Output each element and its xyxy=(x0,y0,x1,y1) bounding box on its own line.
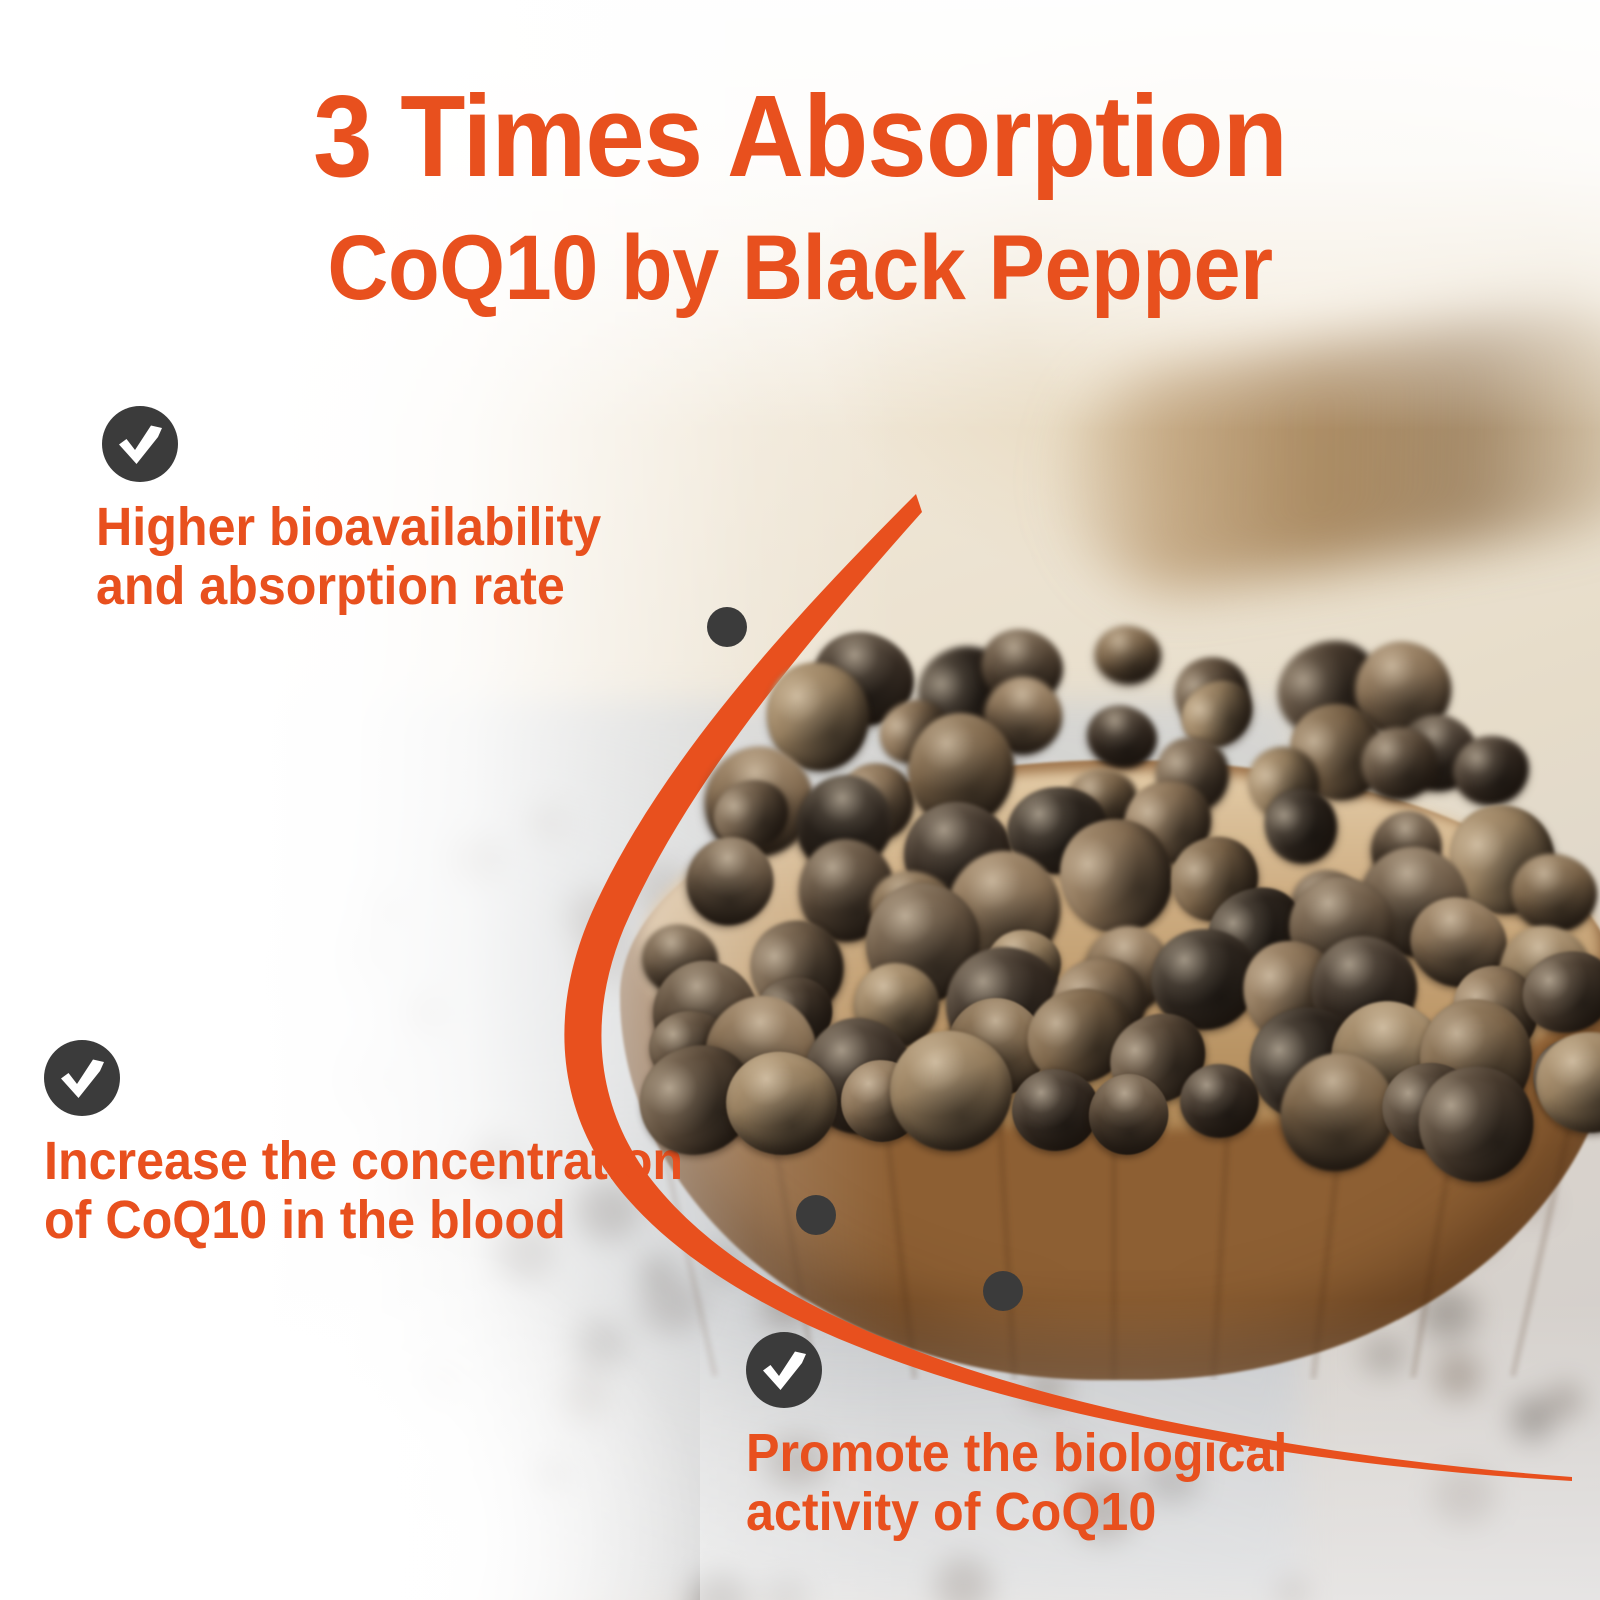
benefit-2-line-2: of CoQ10 in the blood xyxy=(44,1191,683,1250)
check-circle-icon xyxy=(746,1332,822,1408)
photo-peppercorn-pile xyxy=(660,640,1600,1200)
infographic-poster: 3 Times Absorption CoQ10 by Black Pepper… xyxy=(0,0,1600,1600)
benefit-2-line-1: Increase the concentration xyxy=(44,1131,683,1191)
arc-dot-1 xyxy=(707,607,747,647)
benefit-text-1: Higher bioavailability and absorption ra… xyxy=(96,498,601,617)
check-circle-icon xyxy=(44,1040,120,1116)
benefit-item-2: Increase the concentration of CoQ10 in t… xyxy=(44,1040,731,1251)
check-circle-icon xyxy=(102,406,178,482)
benefit-item-1: Higher bioavailability and absorption ra… xyxy=(96,406,639,617)
benefit-item-3: Promote the biological activity of CoQ10 xyxy=(746,1332,1328,1543)
benefit-3-line-1: Promote the biological xyxy=(746,1423,1287,1483)
benefit-1-line-2: and absorption rate xyxy=(96,557,601,616)
arc-dot-2 xyxy=(796,1195,836,1235)
benefit-text-2: Increase the concentration of CoQ10 in t… xyxy=(44,1132,683,1251)
benefit-3-line-2: activity of CoQ10 xyxy=(746,1483,1287,1542)
benefit-1-line-1: Higher bioavailability xyxy=(96,497,601,557)
arc-dot-3 xyxy=(983,1271,1023,1311)
benefit-text-3: Promote the biological activity of CoQ10 xyxy=(746,1424,1287,1543)
